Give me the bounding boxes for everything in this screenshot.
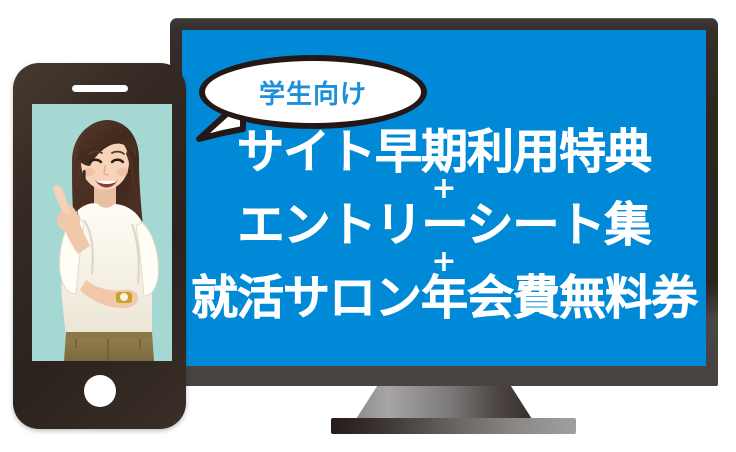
plus-separator-1: + [431,179,456,199]
phone-screen [32,104,172,361]
monitor-stand-base [331,418,576,434]
speech-bubble: 学生向け [193,55,433,133]
plus-separator-2: + [431,252,456,272]
scene-canvas: サイト早期利用特典 + エントリーシート集 + 就活サロン年会費無料券 [0,0,736,452]
woman-photo-illustration [32,104,172,361]
smartphone [13,63,186,429]
screen-headline-3: 就活サロン年会費無料券 [191,274,697,324]
monitor-stand-neck [356,386,532,419]
speech-bubble-label: 学生向け [193,55,433,129]
phone-home-button[interactable] [84,375,116,407]
phone-speaker-icon [72,85,128,92]
